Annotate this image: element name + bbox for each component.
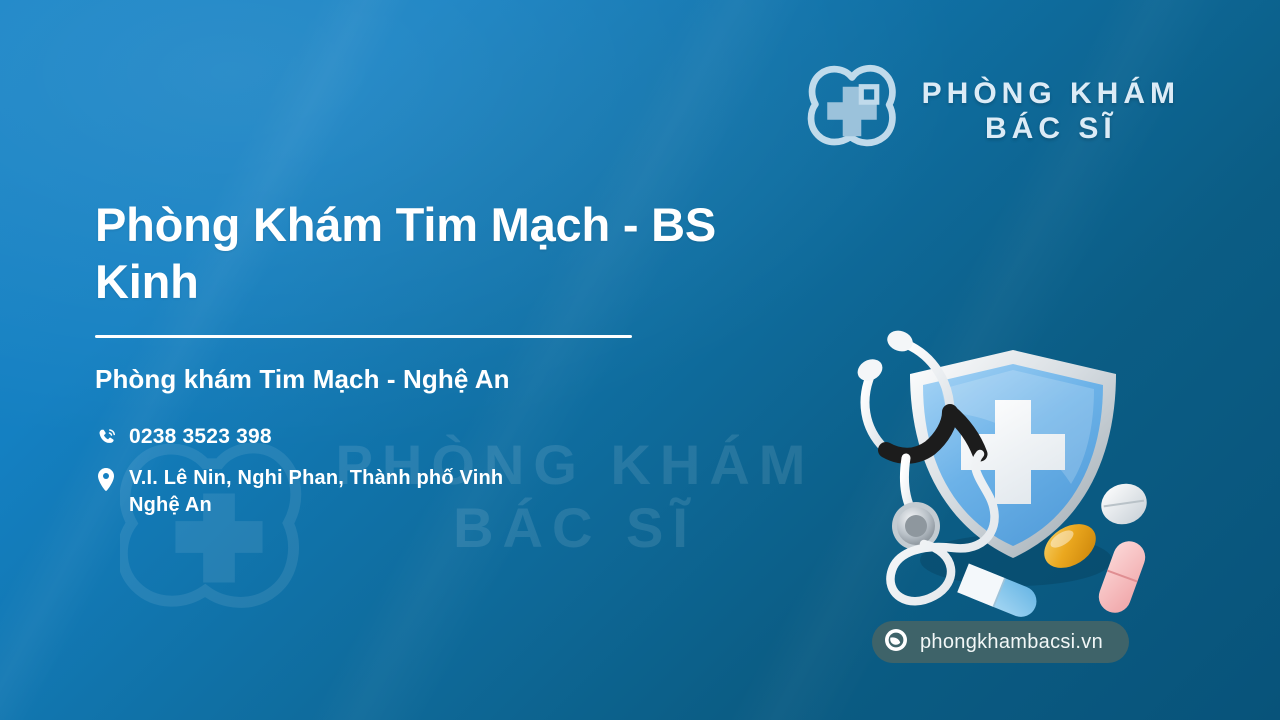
contact-row-phone[interactable]: 0238 3523 398 (95, 423, 755, 451)
content-block: Phòng Khám Tim Mạch - BS Kinh Phòng khám… (95, 196, 755, 533)
contact-info: 0238 3523 398 V.I. Lê Nin, Nghi Phan, Th… (95, 423, 755, 519)
website-badge[interactable]: phongkhambacsi.vn (872, 621, 1129, 663)
address-line-2: Nghệ An (129, 492, 503, 519)
medical-heart-cross-logo-icon (800, 62, 904, 160)
contact-row-address[interactable]: V.I. Lê Nin, Nghi Phan, Thành phố Vinh N… (95, 465, 755, 519)
page-title: Phòng Khám Tim Mạch - BS Kinh (95, 196, 755, 311)
phone-call-icon (95, 425, 117, 451)
phone-number: 0238 3523 398 (129, 423, 272, 451)
white-round-tablet (1096, 478, 1152, 530)
globe-icon (884, 628, 908, 657)
website-url: phongkhambacsi.vn (920, 631, 1103, 654)
map-pin-icon (95, 467, 117, 493)
stethoscope-shield-pills-illustration (838, 308, 1178, 620)
address: V.I. Lê Nin, Nghi Phan, Thành phố Vinh N… (129, 465, 503, 519)
address-line-1: V.I. Lê Nin, Nghi Phan, Thành phố Vinh (129, 467, 503, 489)
brand-line-2: BÁC SĨ (922, 111, 1180, 146)
brand-line-1: PHÒNG KHÁM (922, 76, 1180, 111)
title-divider (95, 335, 632, 338)
clinic-banner: PHÒNG KHÁM BÁC SĨ PHÒNG KHÁM BÁC SĨ Phòn… (0, 0, 1280, 720)
brand-logo: PHÒNG KHÁM BÁC SĨ (800, 62, 1180, 160)
page-subtitle: Phòng khám Tim Mạch - Nghệ An (95, 364, 755, 395)
brand-text: PHÒNG KHÁM BÁC SĨ (922, 76, 1180, 147)
